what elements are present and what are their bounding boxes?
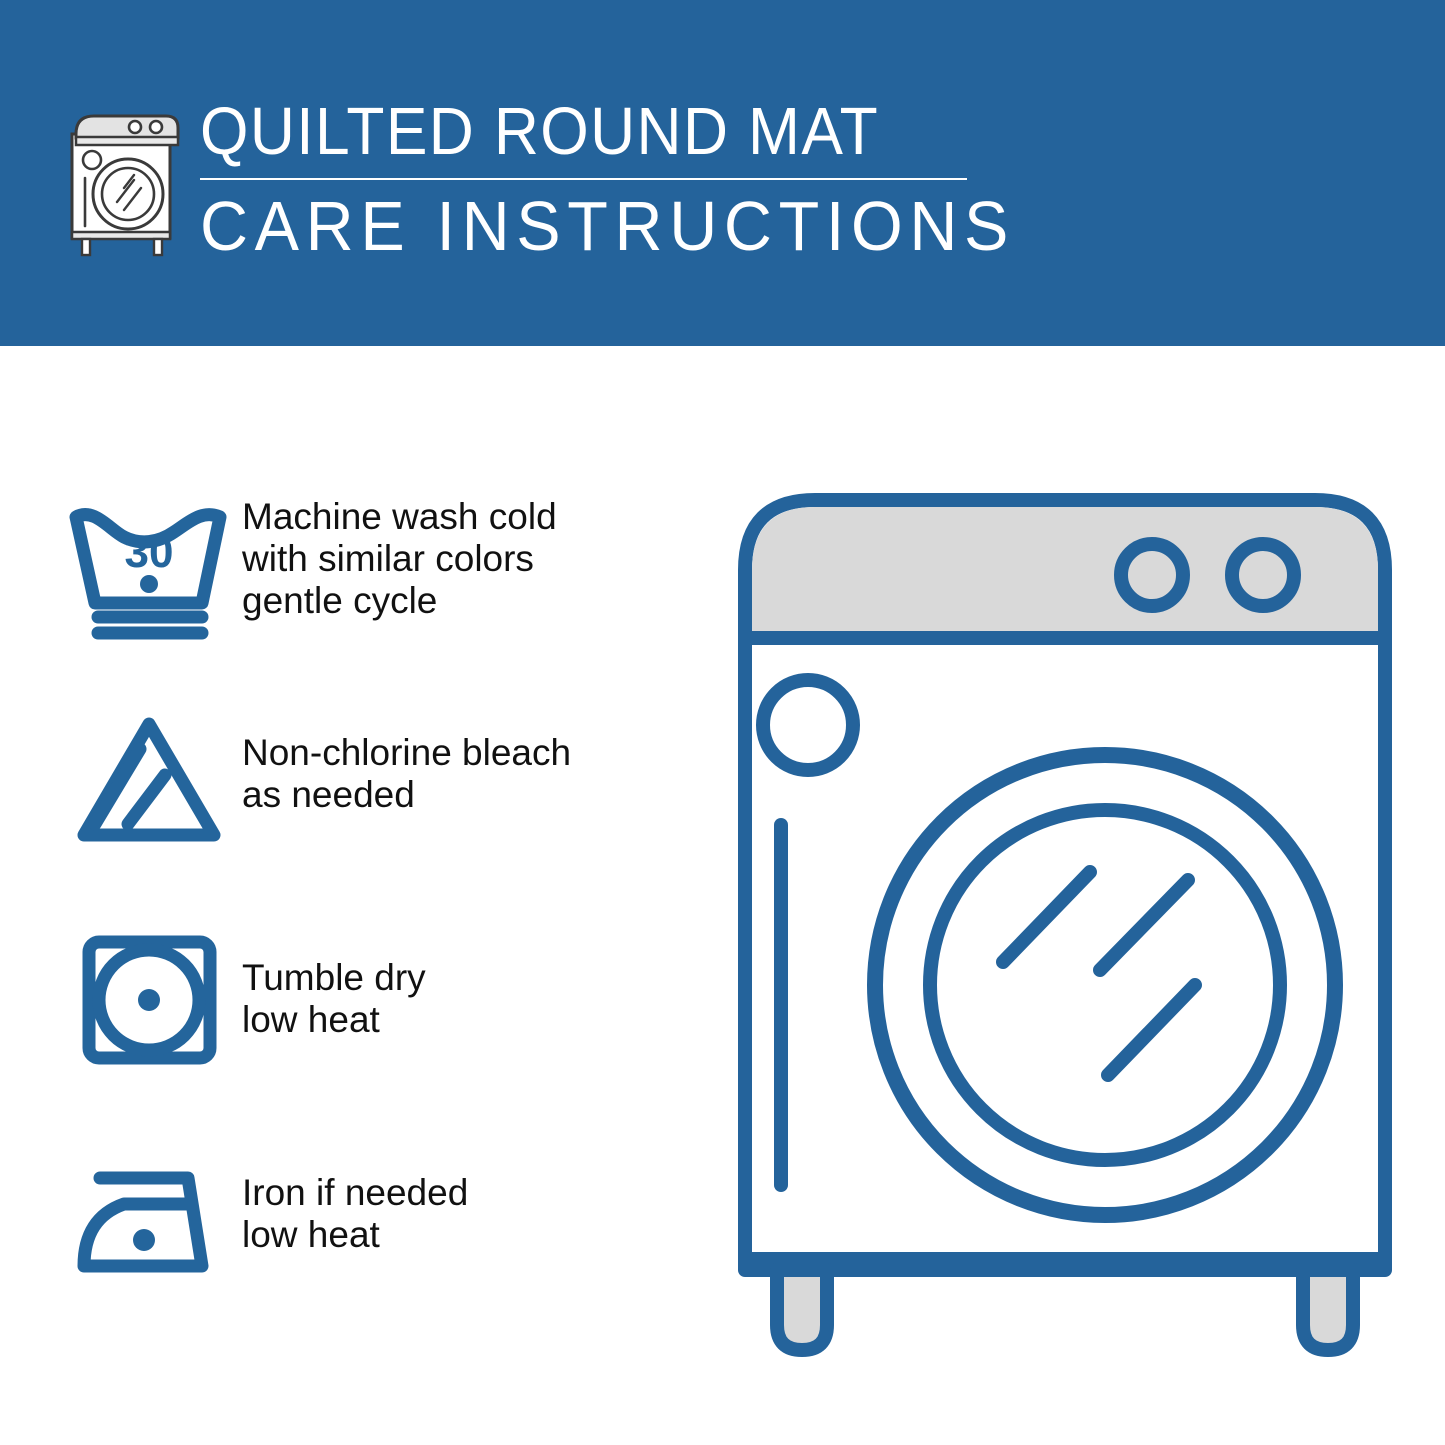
care-line: Non-chlorine bleach (242, 732, 702, 774)
dispenser-button (763, 680, 853, 770)
care-line: Tumble dry (242, 957, 702, 999)
door-inner-ring (930, 810, 1280, 1160)
care-text-machine-wash: Machine wash cold with similar colors ge… (242, 490, 702, 622)
care-line: low heat (242, 1214, 702, 1256)
care-row-bleach: Non-chlorine bleach as needed (62, 702, 702, 852)
care-text-tumble-dry: Tumble dry low heat (242, 925, 702, 1041)
care-line: low heat (242, 999, 702, 1041)
care-line: with similar colors (242, 538, 702, 580)
page-title: QUILTED ROUND MAT (200, 96, 998, 168)
tumble-dry-low-icon (62, 925, 242, 1075)
leg-left (777, 1270, 827, 1350)
header-banner: QUILTED ROUND MAT CARE INSTRUCTIONS (0, 0, 1445, 346)
page-subtitle: CARE INSTRUCTIONS (200, 188, 1015, 264)
title-divider (200, 178, 967, 180)
care-line: as needed (242, 774, 702, 816)
washing-machine-icon (62, 104, 182, 259)
base-bar (745, 1252, 1385, 1277)
control-knob-left (1121, 544, 1183, 606)
care-line: Machine wash cold (242, 496, 702, 538)
wash-temperature-label: 30 (125, 528, 174, 577)
care-text-iron: Iron if needed low heat (242, 1142, 702, 1256)
care-line: gentle cycle (242, 580, 702, 622)
care-instructions-page: QUILTED ROUND MAT CARE INSTRUCTIONS 30 (0, 0, 1445, 1445)
leg-right (1303, 1270, 1353, 1350)
care-row-tumble-dry: Tumble dry low heat (62, 925, 702, 1075)
care-row-machine-wash: 30 Machine wash cold with similar colors… (62, 490, 702, 640)
care-row-iron: Iron if needed low heat (62, 1142, 702, 1292)
header-title-block: QUILTED ROUND MAT CARE INSTRUCTIONS (200, 96, 1058, 264)
control-knob-right (1232, 544, 1294, 606)
header-content: QUILTED ROUND MAT CARE INSTRUCTIONS (62, 96, 1058, 264)
front-load-washing-machine-illustration (715, 470, 1415, 1380)
wash-tub-30-icon: 30 (62, 490, 242, 640)
care-text-bleach: Non-chlorine bleach as needed (242, 702, 702, 816)
non-chlorine-bleach-triangle-icon (62, 702, 242, 852)
care-line: Iron if needed (242, 1172, 702, 1214)
iron-low-heat-icon (62, 1142, 242, 1292)
